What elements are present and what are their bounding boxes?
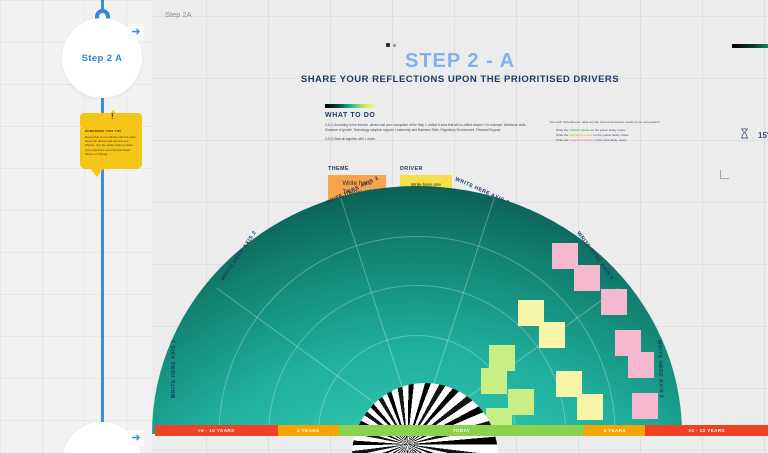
needs-question: For each driver/theme, what are the curr… bbox=[550, 120, 700, 125]
what-to-do-block: WHAT TO DO 2.A.1) According to the theme… bbox=[325, 112, 540, 146]
hourglass-icon bbox=[740, 126, 749, 144]
needs-block: For each driver/theme, what are the curr… bbox=[550, 120, 700, 143]
tip-callout: REMEMBER THIS TIP! Remember to co-ordina… bbox=[80, 125, 142, 169]
radar-sticky-note[interactable] bbox=[577, 394, 603, 420]
timeline-segment: 3 YEARS bbox=[278, 425, 339, 436]
arrow-right-icon[interactable]: ➜ bbox=[128, 24, 144, 40]
radar-sticky-note[interactable] bbox=[539, 322, 565, 348]
what-to-do-paragraph-2: 2.A.2) Start all together with 1 driver. bbox=[325, 137, 540, 142]
timeline-segment: >4 - 10 YEARS bbox=[155, 425, 278, 436]
duration-value: 15' bbox=[758, 131, 768, 140]
theme-label: THEME bbox=[328, 166, 386, 172]
marble-texture bbox=[352, 383, 498, 453]
arrow-right-next-icon[interactable]: ➜ bbox=[128, 430, 144, 446]
what-to-do-heading: WHAT TO DO bbox=[325, 112, 540, 119]
app-root: Step 2 A ➜ REMEMBER THIS TIP! Remember t… bbox=[0, 0, 768, 453]
gradient-rule-what-to-do bbox=[325, 104, 377, 108]
timeline-segment: >4 - 10 YEARS bbox=[645, 425, 768, 436]
activity-meta: 15' Plenary activity bbox=[740, 126, 768, 144]
needs-bullet-list: Write the current needs on the green sti… bbox=[550, 128, 700, 144]
timeline-segment: TODAY bbox=[339, 425, 584, 436]
driver-label: DRIVER bbox=[400, 166, 452, 172]
needs-bullet-item: Write the long-term needs on the pink st… bbox=[550, 138, 700, 143]
radar-sticky-note[interactable] bbox=[574, 265, 600, 291]
page-subtitle: SHARE YOUR REFLECTIONS UPON THE PRIORITI… bbox=[152, 74, 768, 85]
step-rail: Step 2 A ➜ REMEMBER THIS TIP! Remember t… bbox=[0, 0, 152, 453]
timeline-bar: >4 - 10 YEARS3 YEARSTODAY3 YEARS>4 - 10 … bbox=[155, 425, 768, 436]
corner-marker bbox=[720, 170, 729, 179]
gradient-rule-top-right bbox=[732, 44, 768, 48]
step-circle-label: Step 2 A bbox=[82, 53, 123, 64]
tip-callout-body: Remember to co-ordinate with the team ab… bbox=[85, 135, 137, 156]
anchor-dot-secondary bbox=[393, 44, 396, 47]
timeline-segment: 3 YEARS bbox=[584, 425, 645, 436]
anchor-dot-primary bbox=[386, 43, 390, 47]
page-title: STEP 2 - A bbox=[152, 50, 768, 73]
radar-axis-label-1: WRITE HERE AXIS 1 bbox=[171, 339, 177, 398]
tip-callout-title: REMEMBER THIS TIP! bbox=[85, 129, 137, 133]
what-to-do-paragraph-1: 2.A.1) According to the themes, drivers … bbox=[325, 123, 540, 133]
radar-sticky-note[interactable] bbox=[601, 289, 627, 315]
radar-sticky-note[interactable] bbox=[628, 352, 654, 378]
center-marble-image bbox=[352, 383, 498, 453]
exclamation-icon bbox=[104, 110, 122, 121]
breadcrumb: Step 2A bbox=[165, 10, 192, 19]
radar-sticky-note[interactable] bbox=[632, 393, 658, 419]
